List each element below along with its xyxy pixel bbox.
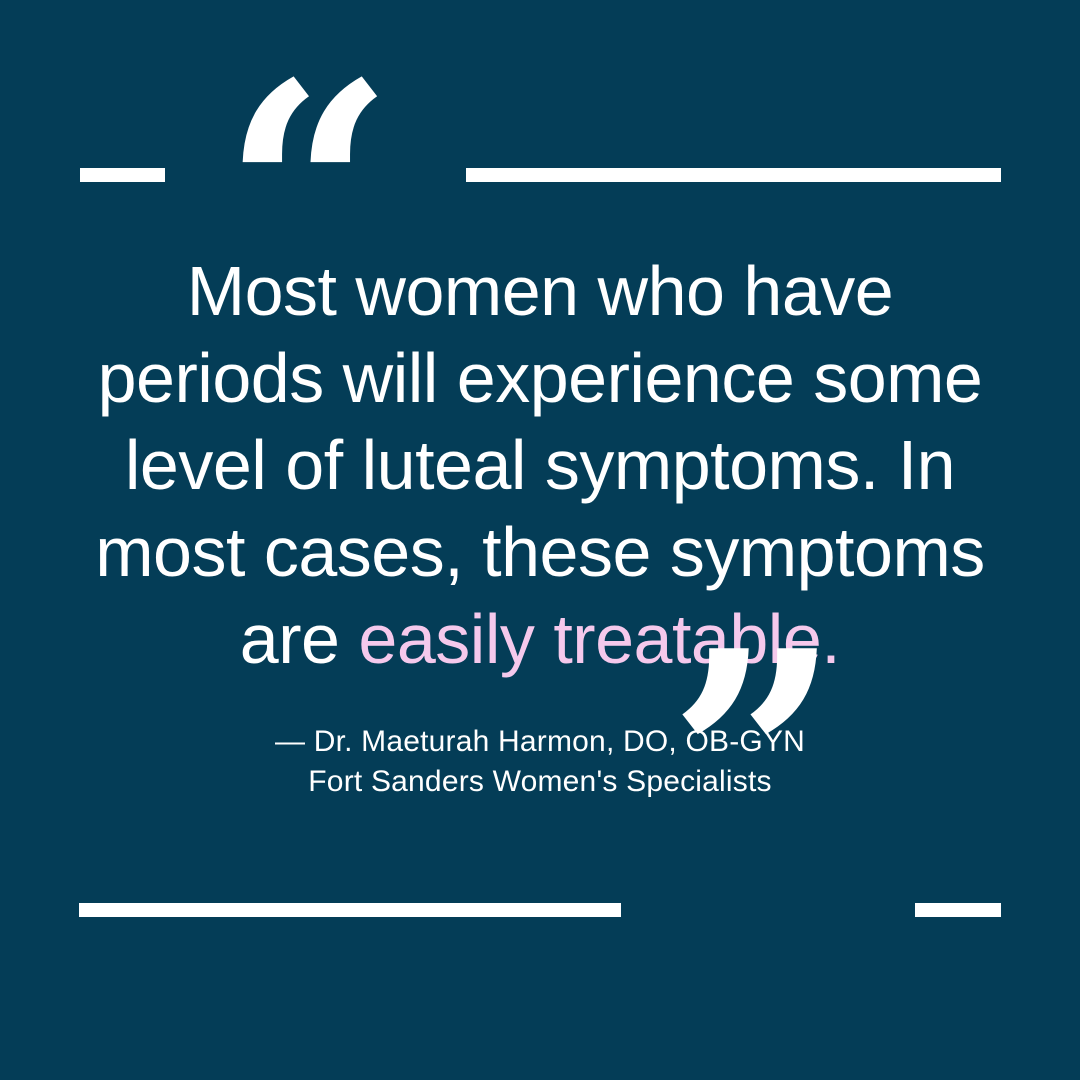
close-quote-icon: ” bbox=[668, 612, 835, 912]
quote-text: Most women who have periods will experie… bbox=[70, 248, 1010, 683]
bottom-left-rule bbox=[79, 903, 621, 917]
attribution-name: — Dr. Maeturah Harmon, DO, OB-GYN bbox=[70, 722, 1010, 762]
attribution: — Dr. Maeturah Harmon, DO, OB-GYN Fort S… bbox=[70, 722, 1010, 802]
attribution-organization: Fort Sanders Women's Specialists bbox=[70, 762, 1010, 802]
top-left-dash bbox=[80, 168, 165, 182]
quote-card: “ Most women who have periods will exper… bbox=[0, 0, 1080, 1080]
top-right-rule bbox=[466, 168, 1001, 182]
bottom-right-dash bbox=[915, 903, 1001, 917]
